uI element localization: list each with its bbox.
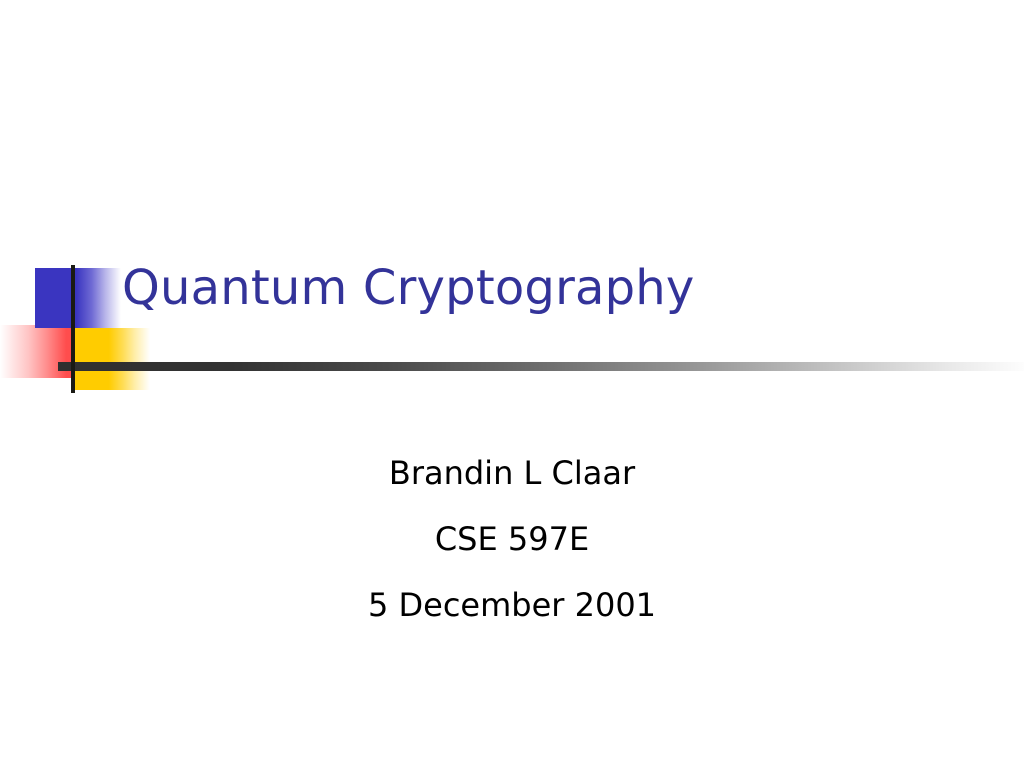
subtitle-block: Brandin L Claar CSE 597E 5 December 2001 xyxy=(170,440,854,638)
title-slide: Quantum Cryptography Brandin L Claar CSE… xyxy=(0,0,1024,768)
page-title: Quantum Cryptography xyxy=(122,262,695,316)
subtitle-line-date: 5 December 2001 xyxy=(170,572,854,638)
decoration-blue-block xyxy=(35,268,121,328)
subtitle-line-author: Brandin L Claar xyxy=(170,440,854,506)
decoration-vertical-rule xyxy=(71,265,75,393)
title-decoration-graphic xyxy=(0,0,1024,420)
decoration-yellow-block xyxy=(75,328,150,390)
subtitle-line-course: CSE 597E xyxy=(170,506,854,572)
decoration-red-block xyxy=(0,325,77,378)
decoration-horizontal-rule xyxy=(58,362,1024,371)
